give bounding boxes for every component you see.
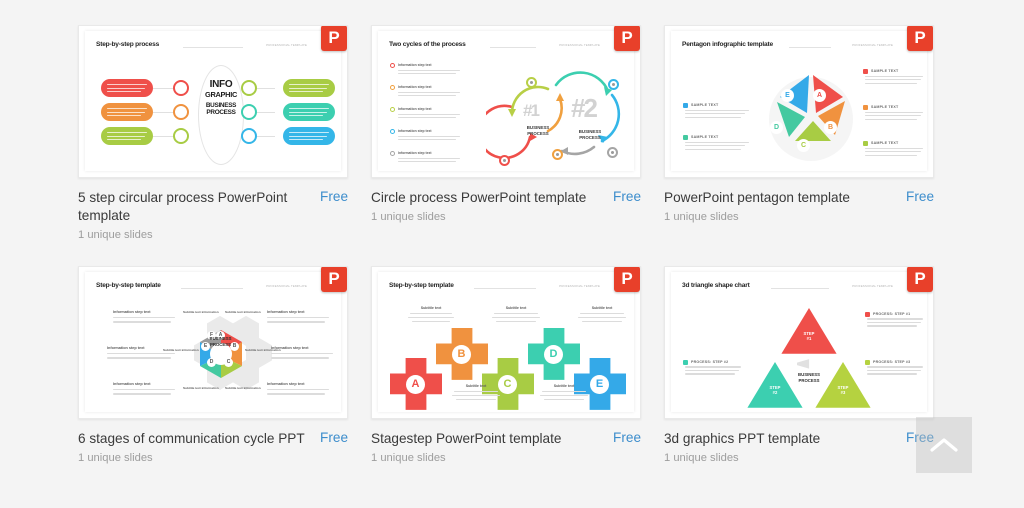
step-letter: E bbox=[590, 375, 609, 394]
template-card[interactable]: Step-by-step template PROFESSIONAL TEMPL… bbox=[371, 266, 641, 464]
slide-subheading: PROFESSIONAL TEMPLATE bbox=[266, 43, 307, 47]
sub-label: Subtitle text information bbox=[163, 348, 195, 352]
bullet-square-icon bbox=[863, 69, 868, 74]
bullet-square-icon bbox=[863, 105, 868, 110]
list-item-label: SAMPLE TEXT bbox=[871, 141, 898, 145]
bullet-square-icon bbox=[683, 135, 688, 140]
price-label[interactable]: Free bbox=[613, 430, 641, 445]
list-item-line bbox=[865, 83, 917, 84]
step-caption: Subtitle text bbox=[538, 384, 590, 400]
info-label: Information step text bbox=[113, 382, 175, 386]
caption-line bbox=[410, 313, 452, 314]
info-block: Information step text bbox=[113, 310, 175, 323]
step-caption-label: Subtitle text bbox=[450, 384, 502, 388]
cycle-node bbox=[608, 79, 619, 90]
step-ring bbox=[241, 128, 257, 144]
info-label: Information step text bbox=[267, 382, 329, 386]
slide-subheading: PROFESSIONAL TEMPLATE bbox=[559, 284, 600, 288]
triangle-shape: STEP #1 bbox=[779, 306, 839, 358]
segment-letter: E bbox=[781, 89, 794, 102]
caption-line bbox=[454, 391, 498, 392]
sub-label: Subtitle text information bbox=[183, 310, 215, 314]
list-item-line bbox=[685, 370, 739, 371]
step-letter: A bbox=[406, 375, 425, 394]
list-item-line bbox=[865, 76, 923, 77]
template-thumbnail[interactable]: Step-by-step process PROFESSIONAL TEMPLA… bbox=[78, 25, 348, 178]
template-gallery-page: Step-by-step process PROFESSIONAL TEMPLA… bbox=[0, 0, 1024, 508]
list-item-label: Information step text bbox=[398, 107, 432, 111]
list-item-line bbox=[398, 136, 460, 137]
step-letter: B bbox=[452, 345, 471, 364]
caption-line bbox=[580, 313, 624, 314]
slide-heading: 3d triangle shape chart bbox=[682, 282, 750, 289]
list-item-label: SAMPLE TEXT bbox=[691, 135, 718, 139]
triangle-label-line2: #3 bbox=[838, 390, 849, 396]
pentagon-diagram bbox=[759, 67, 863, 171]
caption-line bbox=[544, 399, 584, 400]
triangle-label-line2: #2 bbox=[770, 390, 781, 396]
slide-heading-rule bbox=[490, 47, 536, 48]
slide-heading-rule bbox=[789, 47, 831, 48]
info-line bbox=[113, 393, 171, 394]
segment-letter: C bbox=[224, 358, 233, 367]
megaphone-icon bbox=[797, 358, 819, 370]
center-text-block: BUSINESS PROCESS bbox=[787, 372, 831, 384]
cycle-number: #1 bbox=[523, 101, 538, 121]
powerpoint-badge-icon: P bbox=[614, 25, 640, 51]
list-item-line bbox=[867, 322, 921, 323]
price-label[interactable]: Free bbox=[613, 189, 641, 204]
slide-preview: Two cycles of the process PROFESSIONAL T… bbox=[378, 31, 634, 171]
list-item-line bbox=[398, 114, 460, 115]
info-block: Information step text bbox=[267, 382, 329, 395]
info-line bbox=[113, 321, 171, 322]
template-grid: Step-by-step process PROFESSIONAL TEMPLA… bbox=[78, 25, 934, 464]
list-item-line bbox=[865, 155, 917, 156]
step-letter: D bbox=[544, 345, 563, 364]
slide-heading: Step-by-step template bbox=[96, 282, 161, 289]
slide-heading: Step-by-step process bbox=[96, 41, 159, 48]
caption-line bbox=[496, 321, 536, 322]
cycle-node bbox=[499, 155, 510, 166]
card-subtitle: 1 unique slides bbox=[371, 211, 641, 223]
slide-preview: Step-by-step process PROFESSIONAL TEMPLA… bbox=[85, 31, 341, 171]
list-item-label: Information step text bbox=[398, 63, 432, 67]
bullet-dot-icon bbox=[390, 63, 395, 68]
slide-preview: 3d triangle shape chart PROFESSIONAL TEM… bbox=[671, 272, 927, 412]
step-ring bbox=[173, 104, 189, 120]
triangle-label: STEP #3 bbox=[838, 385, 849, 396]
caption-line bbox=[578, 317, 626, 318]
bullet-square-icon bbox=[865, 360, 870, 365]
card-meta: 5 step circular process PowerPoint templ… bbox=[78, 178, 348, 241]
sub-label: Subtitle text information bbox=[245, 348, 277, 352]
center-line-2: GRAPHIC bbox=[198, 90, 244, 99]
center-line-2: PROCESS bbox=[202, 342, 239, 348]
bullet-dot-icon bbox=[390, 85, 395, 90]
slide-heading-rule bbox=[183, 47, 243, 48]
bullet-dot-icon bbox=[390, 151, 395, 156]
template-thumbnail[interactable]: Two cycles of the process PROFESSIONAL T… bbox=[371, 25, 641, 178]
slide-preview: Step-by-step template PROFESSIONAL TEMPL… bbox=[85, 272, 341, 412]
list-item-line bbox=[398, 73, 456, 74]
sub-label: Subtitle text information bbox=[225, 310, 257, 314]
slide-heading: Step-by-step template bbox=[389, 282, 454, 289]
price-label[interactable]: Free bbox=[320, 189, 348, 204]
list-item-label: SAMPLE TEXT bbox=[871, 69, 898, 73]
list-item-line bbox=[867, 370, 921, 371]
card-subtitle: 1 unique slides bbox=[371, 452, 641, 464]
sub-label-block: Subtitle text information bbox=[163, 348, 195, 352]
center-line-2: PROCESS bbox=[787, 378, 831, 384]
list-item-line bbox=[398, 95, 456, 96]
center-text-block: INFO GRAPHIC BUSINESS PROCESS bbox=[198, 79, 244, 116]
template-thumbnail[interactable]: 3d triangle shape chart PROFESSIONAL TEM… bbox=[664, 266, 934, 419]
slide-heading-rule bbox=[474, 288, 536, 289]
sub-label-block: Subtitle text information bbox=[183, 386, 215, 390]
sub-label-block: Subtitle text information bbox=[225, 310, 257, 314]
sub-label-block: Subtitle text information bbox=[225, 386, 257, 390]
sub-label-block: Subtitle text information bbox=[245, 348, 277, 352]
step-caption: Subtitle text bbox=[576, 306, 628, 322]
list-item-line bbox=[685, 373, 735, 374]
info-line bbox=[271, 357, 329, 358]
slide-heading-rule bbox=[181, 288, 243, 289]
chevron-up-icon bbox=[930, 437, 958, 453]
list-item-line bbox=[398, 158, 460, 159]
list-item-label: PROCESS: STEP #2 bbox=[691, 360, 728, 364]
center-line-4: PROCESS bbox=[198, 109, 244, 116]
step-caption: Subtitle text bbox=[450, 384, 502, 400]
list-item-line bbox=[685, 366, 741, 367]
list-item-line bbox=[685, 117, 741, 118]
card-title[interactable]: PowerPoint pentagon template bbox=[664, 189, 850, 207]
info-line bbox=[113, 317, 175, 318]
slide-subheading: PROFESSIONAL TEMPLATE bbox=[266, 284, 307, 288]
card-title[interactable]: 3d graphics PPT template bbox=[664, 430, 820, 448]
process-pill bbox=[283, 79, 335, 97]
slide-heading: Two cycles of the process bbox=[389, 41, 466, 48]
connector-line bbox=[153, 136, 175, 137]
card-meta: PowerPoint pentagon template Free 1 uniq… bbox=[664, 178, 934, 223]
powerpoint-badge-icon: P bbox=[321, 25, 347, 51]
list-item-line bbox=[865, 119, 917, 120]
triangle-label: STEP #1 bbox=[804, 331, 815, 342]
template-thumbnail[interactable]: Pentagon infographic template PROFESSION… bbox=[664, 25, 934, 178]
info-line bbox=[267, 317, 329, 318]
info-line bbox=[107, 353, 175, 354]
list-item-line bbox=[685, 149, 741, 150]
list-item-line bbox=[398, 161, 456, 162]
cycle-label: BUSINESS PROCESS bbox=[516, 125, 560, 137]
step-caption-label: Subtitle text bbox=[576, 306, 628, 310]
slide-subheading: PROFESSIONAL TEMPLATE bbox=[852, 284, 893, 288]
step-ring bbox=[173, 128, 189, 144]
sub-label: Subtitle text information bbox=[225, 386, 257, 390]
bullet-square-icon bbox=[865, 312, 870, 317]
list-item-line bbox=[865, 79, 921, 80]
slide-heading: Pentagon infographic template bbox=[682, 41, 773, 48]
list-item-label: PROCESS: STEP #3 bbox=[873, 360, 910, 364]
process-pill bbox=[283, 127, 335, 145]
list-item-line bbox=[865, 151, 921, 152]
step-caption-label: Subtitle text bbox=[490, 306, 542, 310]
card-title[interactable]: Circle process PowerPoint template bbox=[371, 189, 586, 207]
list-item-line bbox=[865, 148, 923, 149]
step-caption-label: Subtitle text bbox=[538, 384, 590, 388]
slide-heading-rule bbox=[771, 288, 829, 289]
info-label: Information step text bbox=[267, 310, 329, 314]
list-item-label: SAMPLE TEXT bbox=[691, 103, 718, 107]
powerpoint-badge-icon: P bbox=[614, 266, 640, 292]
connector-line bbox=[153, 112, 175, 113]
bullet-square-icon bbox=[683, 360, 688, 365]
card-meta: 3d graphics PPT template Free 1 unique s… bbox=[664, 419, 934, 464]
template-thumbnail[interactable]: Step-by-step template PROFESSIONAL TEMPL… bbox=[78, 266, 348, 419]
caption-line bbox=[542, 391, 586, 392]
process-pill bbox=[101, 79, 153, 97]
caption-line bbox=[408, 317, 454, 318]
cycle-node bbox=[607, 147, 618, 158]
step-caption-label: Subtitle text bbox=[406, 306, 456, 310]
info-block: Information step text bbox=[267, 310, 329, 323]
list-item-label: Information step text bbox=[398, 129, 432, 133]
triangle-label-line2: #1 bbox=[804, 336, 815, 342]
info-line bbox=[267, 389, 329, 390]
template-card[interactable]: Step-by-step process PROFESSIONAL TEMPLA… bbox=[78, 25, 348, 241]
list-item-line bbox=[398, 117, 456, 118]
caption-line bbox=[494, 313, 538, 314]
card-subtitle: 1 unique slides bbox=[664, 211, 934, 223]
list-item-line bbox=[685, 110, 749, 111]
list-item-line bbox=[867, 366, 923, 367]
card-subtitle: 1 unique slides bbox=[664, 452, 934, 464]
cycle-label-line2: PROCESS bbox=[568, 135, 612, 141]
template-card[interactable]: 3d triangle shape chart PROFESSIONAL TEM… bbox=[664, 266, 934, 464]
template-card[interactable]: Pentagon infographic template PROFESSION… bbox=[664, 25, 934, 241]
price-label[interactable]: Free bbox=[906, 189, 934, 204]
sub-label-block: Subtitle text information bbox=[183, 310, 215, 314]
cycle-node bbox=[552, 149, 563, 160]
slide-subheading: PROFESSIONAL TEMPLATE bbox=[852, 43, 893, 47]
list-item-label: Information step text bbox=[398, 151, 432, 155]
template-thumbnail[interactable]: Step-by-step template PROFESSIONAL TEMPL… bbox=[371, 266, 641, 419]
caption-line bbox=[452, 395, 500, 396]
process-pill bbox=[283, 103, 335, 121]
process-pill bbox=[101, 127, 153, 145]
list-item-line bbox=[398, 139, 456, 140]
bullet-dot-icon bbox=[390, 107, 395, 112]
info-block: Information step text bbox=[113, 382, 175, 395]
list-item-line bbox=[685, 142, 749, 143]
info-label: Information step text bbox=[113, 310, 175, 314]
cycle-number: #2 bbox=[571, 93, 596, 124]
sub-label: Subtitle text information bbox=[183, 386, 215, 390]
list-item-line bbox=[867, 325, 917, 326]
info-line bbox=[113, 389, 175, 390]
card-title[interactable]: 6 stages of communication cycle PPT bbox=[78, 430, 305, 448]
info-line bbox=[107, 357, 171, 358]
info-line bbox=[267, 393, 325, 394]
card-meta: Stagestep PowerPoint template Free 1 uni… bbox=[371, 419, 641, 464]
list-item-label: Information step text bbox=[398, 85, 432, 89]
template-card[interactable]: Step-by-step template PROFESSIONAL TEMPL… bbox=[78, 266, 348, 464]
bullet-square-icon bbox=[863, 141, 868, 146]
triangle-shape: STEP #2 bbox=[745, 360, 805, 412]
triangle-shape: STEP #3 bbox=[813, 360, 873, 412]
cycle-label-line2: PROCESS bbox=[516, 131, 560, 137]
center-line-3: BUSINESS bbox=[198, 102, 244, 109]
card-subtitle: 1 unique slides bbox=[78, 229, 348, 241]
segment-letter: A bbox=[813, 89, 826, 102]
template-card[interactable]: Two cycles of the process PROFESSIONAL T… bbox=[371, 25, 641, 241]
caption-line bbox=[456, 399, 496, 400]
list-item-line bbox=[398, 92, 460, 93]
slide-preview: Step-by-step template PROFESSIONAL TEMPL… bbox=[378, 272, 634, 412]
price-label[interactable]: Free bbox=[320, 430, 348, 445]
list-item-label: SAMPLE TEXT bbox=[871, 105, 898, 109]
step-caption: Subtitle text bbox=[490, 306, 542, 322]
bullet-dot-icon bbox=[390, 129, 395, 134]
segment-letter: C bbox=[797, 139, 810, 152]
list-item-line bbox=[865, 115, 921, 116]
list-item-line bbox=[867, 373, 917, 374]
list-item-line bbox=[867, 318, 923, 319]
powerpoint-badge-icon: P bbox=[907, 266, 933, 292]
info-line bbox=[267, 321, 325, 322]
caption-line bbox=[412, 321, 450, 322]
bullet-square-icon bbox=[683, 103, 688, 108]
process-pill bbox=[101, 103, 153, 121]
triangle-label: STEP #2 bbox=[770, 385, 781, 396]
segment-letter: D bbox=[770, 121, 783, 134]
center-text-block: BUSINESS PROCESS bbox=[202, 336, 239, 348]
segment-letter: D bbox=[207, 358, 216, 367]
card-meta: Circle process PowerPoint template Free … bbox=[371, 178, 641, 223]
caption-line bbox=[582, 321, 622, 322]
list-item-line bbox=[685, 113, 745, 114]
connector-line bbox=[153, 88, 175, 89]
cycle-label: BUSINESS PROCESS bbox=[568, 129, 612, 141]
cycle-node bbox=[526, 77, 537, 88]
segment-letter: B bbox=[824, 121, 837, 134]
center-line-1: INFO bbox=[198, 79, 244, 90]
card-title[interactable]: Stagestep PowerPoint template bbox=[371, 430, 561, 448]
powerpoint-badge-icon: P bbox=[321, 266, 347, 292]
card-subtitle: 1 unique slides bbox=[78, 452, 348, 464]
slide-subheading: PROFESSIONAL TEMPLATE bbox=[559, 43, 600, 47]
card-meta: 6 stages of communication cycle PPT Free… bbox=[78, 419, 348, 464]
slide-preview: Pentagon infographic template PROFESSION… bbox=[671, 31, 927, 171]
info-line bbox=[271, 353, 333, 354]
list-item-label: PROCESS: STEP #1 bbox=[873, 312, 910, 316]
list-item-line bbox=[398, 70, 460, 71]
caption-line bbox=[540, 395, 588, 396]
scroll-to-top-button[interactable] bbox=[916, 417, 972, 473]
step-caption: Subtitle text bbox=[406, 306, 456, 322]
list-item-line bbox=[865, 112, 923, 113]
step-ring bbox=[173, 80, 189, 96]
caption-line bbox=[492, 317, 540, 318]
card-title[interactable]: 5 step circular process PowerPoint templ… bbox=[78, 189, 312, 225]
powerpoint-badge-icon: P bbox=[907, 25, 933, 51]
list-item-line bbox=[685, 145, 745, 146]
